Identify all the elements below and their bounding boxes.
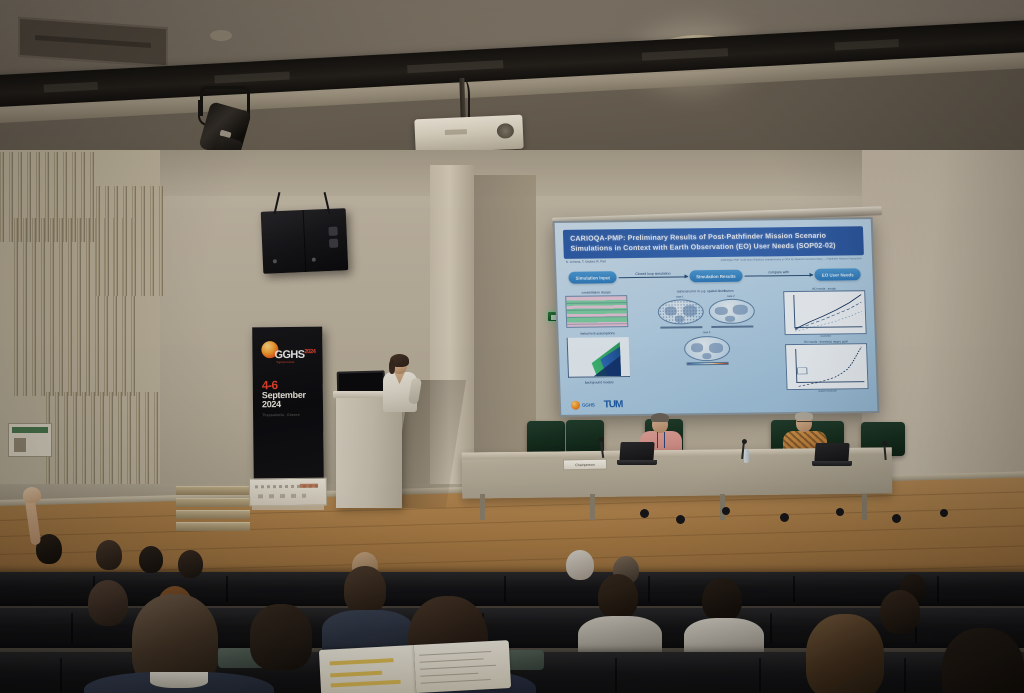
- flow-box-simulation-input: Simulation Input: [568, 272, 617, 284]
- map2-label: case 2: [708, 294, 754, 298]
- slide-flow-diagram: Simulation Input Closed loop simulation …: [568, 267, 861, 286]
- panel-laptop-1[interactable]: [617, 442, 657, 465]
- presentation-slide: CARIOQA-PMP: Preliminary Results of Post…: [555, 219, 878, 415]
- presenter-person: [380, 356, 420, 412]
- audience-head: [96, 540, 122, 570]
- tum-logo-icon: TUM: [604, 399, 623, 410]
- world-map-case1: [657, 299, 704, 325]
- audience-head: [139, 546, 163, 573]
- audience-collar: [150, 672, 208, 688]
- program-booklet[interactable]: [319, 640, 511, 693]
- audience-head: [178, 550, 203, 578]
- water-bottle: [744, 449, 749, 463]
- acoustic-slat-panel-right: [96, 186, 164, 296]
- audience-head: [880, 590, 920, 634]
- panel-namecard: Chairperson: [563, 459, 607, 471]
- eo-needs-threshold-plot: [785, 343, 869, 390]
- speaker-podium: [336, 396, 402, 508]
- panel-laptop-2[interactable]: [812, 443, 852, 466]
- audience-head-foreground: [250, 604, 312, 670]
- raised-hand: [22, 487, 44, 545]
- slide-header-right: CARIOQA-PMP: Cold Atom Rubidium Interfer…: [721, 257, 862, 262]
- instrument-label: instrument assumptions: [566, 331, 628, 336]
- constellation-design-figure: [565, 295, 628, 328]
- flow-link-1-label: Closed loop simulation: [635, 271, 670, 275]
- panel-chair-empty-1: [527, 421, 565, 455]
- slide-body: constellation design instrument assumpti…: [565, 287, 869, 399]
- ceiling-downlight-secondary: [210, 30, 232, 41]
- map1-label: case 1: [657, 295, 703, 299]
- audience-head: [598, 574, 638, 620]
- gghs-logo-text: GGHS: [582, 402, 595, 407]
- slide-author-line: K. Lichosz, T. Gruber, R. Pail CARIOQA-P…: [566, 257, 862, 264]
- panel-person-1-lanyard: [657, 432, 665, 448]
- maps-label: retrieval error in e.g. spatial distribu…: [631, 288, 779, 294]
- audience-head: [344, 566, 386, 614]
- flow-link-closed-loop: Closed loop simulation: [619, 276, 687, 278]
- wall-loudspeaker-icon: [261, 208, 349, 274]
- map3-label: case 3: [683, 331, 729, 335]
- slide-column-plots: EO needs : trends resolution EO needs : …: [783, 287, 869, 396]
- eo-needs-trends-plot: [783, 290, 867, 335]
- slide-authors: K. Lichosz, T. Gruber, R. Pail: [566, 260, 606, 264]
- background-label: background models: [568, 380, 630, 385]
- world-map-case3: [684, 336, 731, 362]
- conference-banner: GGHS2024 Symposium 4-6 September2024 The…: [252, 327, 324, 488]
- slide-logos: GGHS TUM: [571, 399, 623, 411]
- audience-seating: [0, 520, 1024, 693]
- banner-logo-superscript: 2024: [304, 349, 315, 355]
- flow-link-2-label: compare with: [768, 270, 789, 274]
- panel-person-2-hair: [795, 412, 813, 420]
- plot1-series: [784, 291, 865, 334]
- audience-head: [702, 578, 742, 622]
- audience-head-foreground: [942, 628, 1024, 693]
- panel-namecard-text: Chairperson: [575, 462, 595, 466]
- lecture-hall-photo: CARIOQA-PMP: Preliminary Results of Post…: [0, 0, 1024, 693]
- flow-link-compare: compare with: [745, 275, 813, 277]
- audience-head: [88, 580, 128, 626]
- instrument-assumptions-chart: [567, 337, 630, 378]
- constellation-label: constellation design: [565, 290, 627, 295]
- banner-month: September2024: [262, 391, 306, 410]
- plot2-series: [786, 344, 868, 389]
- slide-column-inputs: constellation design instrument assumpti…: [565, 290, 631, 399]
- audience-head-foreground: [806, 614, 884, 693]
- projection-screen: CARIOQA-PMP: Preliminary Results of Post…: [553, 217, 880, 417]
- flow-box-simulation-results: Simulation Results: [689, 270, 743, 282]
- banner-sponsor-strip: [249, 478, 327, 507]
- loudspeaker-hanging-cables: [276, 192, 332, 214]
- banner-stand-base: [252, 505, 324, 510]
- audience-head: [566, 550, 594, 580]
- slide-title: CARIOQA-PMP: Preliminary Results of Post…: [563, 226, 864, 258]
- banner-subtitle: Symposium: [277, 360, 295, 364]
- wall-notice-poster: [8, 423, 52, 457]
- flow-box-eo-user-needs: EO User Needs: [815, 269, 861, 281]
- world-map-case2: [708, 299, 755, 325]
- gghs-logo-icon: GGHS: [571, 400, 595, 409]
- ceiling-projector-icon: [414, 115, 523, 154]
- slide-column-maps: retrieval error in e.g. spatial distribu…: [631, 288, 783, 398]
- panel-person-1-hair: [651, 413, 669, 422]
- banner-place: Thessaloniki, Greece: [262, 413, 300, 417]
- panel-person-2-glasses-icon: [797, 421, 812, 424]
